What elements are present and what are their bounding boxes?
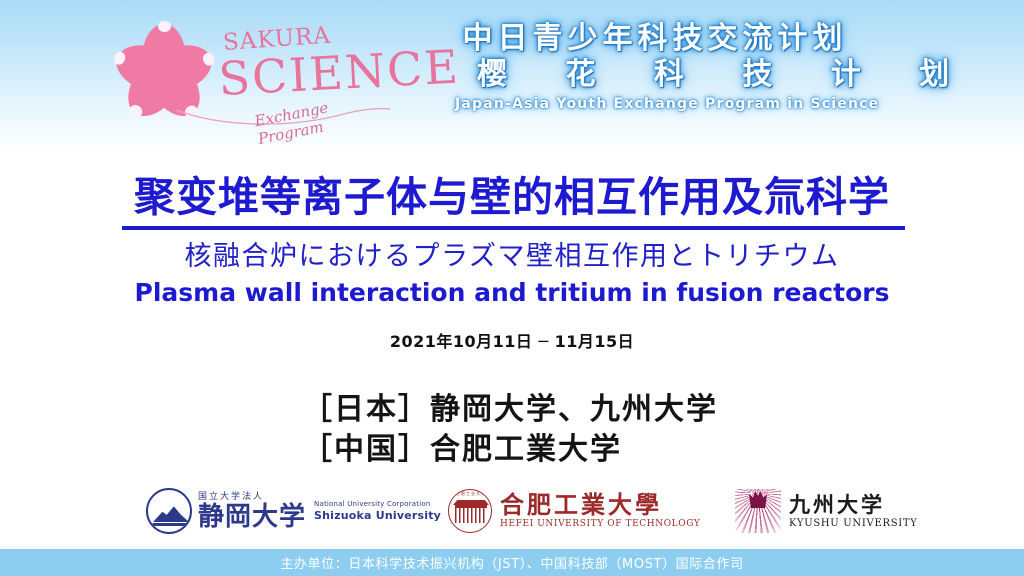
kyushu-name-chinese: 九州大学 xyxy=(789,493,918,517)
footer-bar: 主办单位：日本科学技术振兴机构（JST）、中国科技部（MOST）国际合作司 xyxy=(0,549,1024,576)
hefei-seal-ring-text: 合肥工业大学 xyxy=(449,491,492,497)
shizuoka-english-line2: Shizuoka University xyxy=(314,509,441,522)
participant-line-japan: ［日本］静岡大学、九州大学 xyxy=(302,390,722,430)
program-banner: 中日青少年科技交流计划 樱 花 科 技 计 划 Japan-Asia Youth… xyxy=(455,22,855,134)
gate-building-circle-icon: 合肥工业大学 xyxy=(448,489,492,533)
event-date: 2021年10月11日 ─ 11月15日 xyxy=(0,328,1024,352)
sunburst-crest-icon xyxy=(735,489,781,533)
poster-slide: SAKURA SCIENCE Exchange Program 中日青少年科技交… xyxy=(0,0,1024,576)
kyushu-name-block: 九州大学 KYUSHU UNIVERSITY xyxy=(789,493,918,530)
banner-line-english: Japan-Asia Youth Exchange Program in Sci… xyxy=(455,94,855,114)
subtitle-english: Plasma wall interaction and tritium in f… xyxy=(0,278,1024,308)
title-divider xyxy=(122,226,905,230)
shizuoka-english-line1: National University Corporation xyxy=(314,500,441,509)
subtitle-japanese: 核融合炉におけるプラズマ壁相互作用とトリチウム xyxy=(0,240,1024,274)
kyushu-university-logo: 九州大学 KYUSHU UNIVERSITY xyxy=(735,489,918,533)
shizuoka-university-logo: 国立大学法人 静岡大学 National University Corporat… xyxy=(146,488,441,534)
participant-line-china: ［中国］合肥工業大学 xyxy=(302,430,722,470)
banner-line-chinese-1: 中日青少年科技交流计划 xyxy=(455,22,855,56)
shizuoka-name-english-block: National University Corporation Shizuoka… xyxy=(314,500,441,522)
footer-organizers-text: 主办单位：日本科学技术振兴机构（JST）、中国科技部（MOST）国际合作司 xyxy=(280,553,743,572)
page-title: 聚变堆等离子体与壁的相互作用及氚科学 xyxy=(0,173,1024,221)
banner-line-chinese-2: 樱 花 科 技 计 划 xyxy=(455,56,855,94)
participating-universities: ［日本］静岡大学、九州大学 ［中国］合肥工業大学 xyxy=(0,390,1024,470)
hefei-name-block: 合肥工業大學 HEFEI UNIVERSITY OF TECHNOLOGY xyxy=(500,492,700,530)
kyushu-name-english: KYUSHU UNIVERSITY xyxy=(789,517,918,530)
shizuoka-name-japanese: 静岡大学 xyxy=(198,503,306,531)
sakura-science-logo: SAKURA SCIENCE Exchange Program xyxy=(112,24,402,134)
hefei-name-chinese: 合肥工業大學 xyxy=(500,492,700,518)
hefei-name-english: HEFEI UNIVERSITY OF TECHNOLOGY xyxy=(500,518,700,530)
shizuoka-name-block: 国立大学法人 静岡大学 xyxy=(198,492,306,531)
shizuoka-corporation-label: 国立大学法人 xyxy=(198,492,306,503)
university-logo-row: 国立大学法人 静岡大学 National University Corporat… xyxy=(0,486,1024,540)
mountain-wave-circle-icon xyxy=(146,488,192,534)
poster-header: SAKURA SCIENCE Exchange Program 中日青少年科技交… xyxy=(0,0,1024,150)
hefei-university-of-technology-logo: 合肥工业大学 合肥工業大學 HEFEI UNIVERSITY OF TECHNO… xyxy=(448,489,700,533)
